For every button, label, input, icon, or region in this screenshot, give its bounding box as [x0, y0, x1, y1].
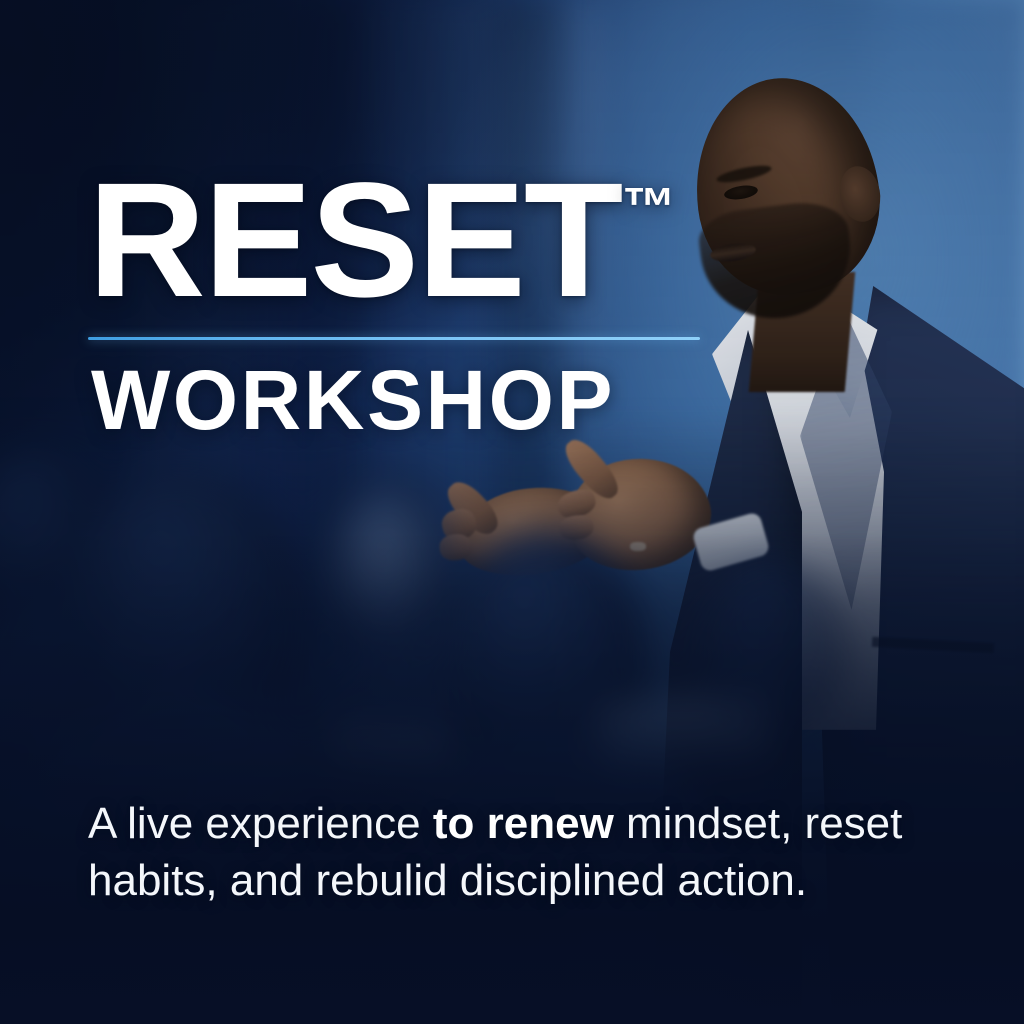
headline-block: RESET™: [88, 168, 788, 311]
headline-word: RESET: [88, 148, 621, 331]
accent-divider: [88, 337, 700, 340]
trademark-symbol: ™: [622, 177, 676, 237]
poster-text-content: RESET™ WORKSHOP A live experience to ren…: [0, 0, 1024, 1024]
subtitle: WORKSHOP: [91, 358, 615, 442]
tagline: A live experience to renew mindset, rese…: [88, 795, 988, 909]
tagline-emphasis: to renew: [433, 799, 614, 848]
tagline-part-one: A live experience: [88, 799, 433, 848]
reset-workshop-poster: RESET™ WORKSHOP A live experience to ren…: [0, 0, 1024, 1024]
page-title: RESET™: [88, 168, 788, 311]
